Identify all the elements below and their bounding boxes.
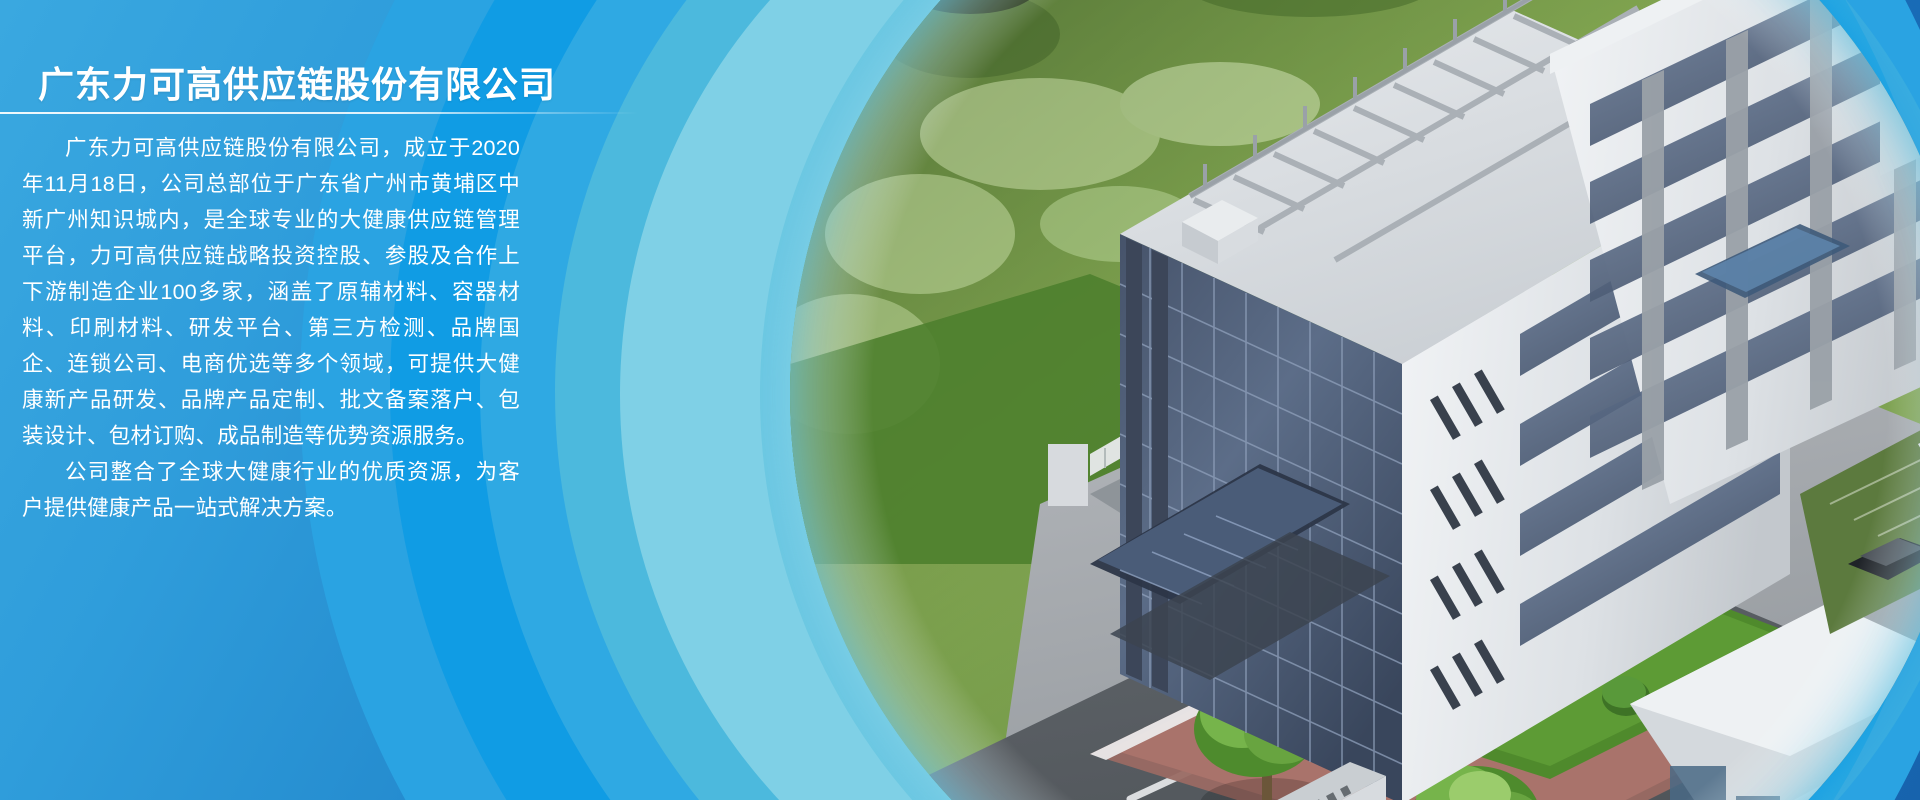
facility-photo-artwork bbox=[790, 0, 1920, 800]
banner-stage: 广东力可高供应链股份有限公司 广东力可高供应链股份有限公司，成立于2020年11… bbox=[0, 0, 1920, 800]
title-divider bbox=[0, 112, 638, 114]
page-title: 广东力可高供应链股份有限公司 bbox=[38, 56, 556, 108]
photo-edge-feather bbox=[790, 0, 1920, 800]
company-intro-body: 广东力可高供应链股份有限公司，成立于2020年11月18日，公司总部位于广东省广… bbox=[22, 130, 520, 526]
intro-paragraph-2: 公司整合了全球大健康行业的优质资源，为客户提供健康产品一站式解决方案。 bbox=[22, 454, 520, 526]
company-intro-panel: 广东力可高供应链股份有限公司 广东力可高供应链股份有限公司，成立于2020年11… bbox=[0, 0, 640, 800]
facility-photo bbox=[790, 0, 1920, 800]
intro-paragraph-1: 广东力可高供应链股份有限公司，成立于2020年11月18日，公司总部位于广东省广… bbox=[22, 130, 520, 454]
